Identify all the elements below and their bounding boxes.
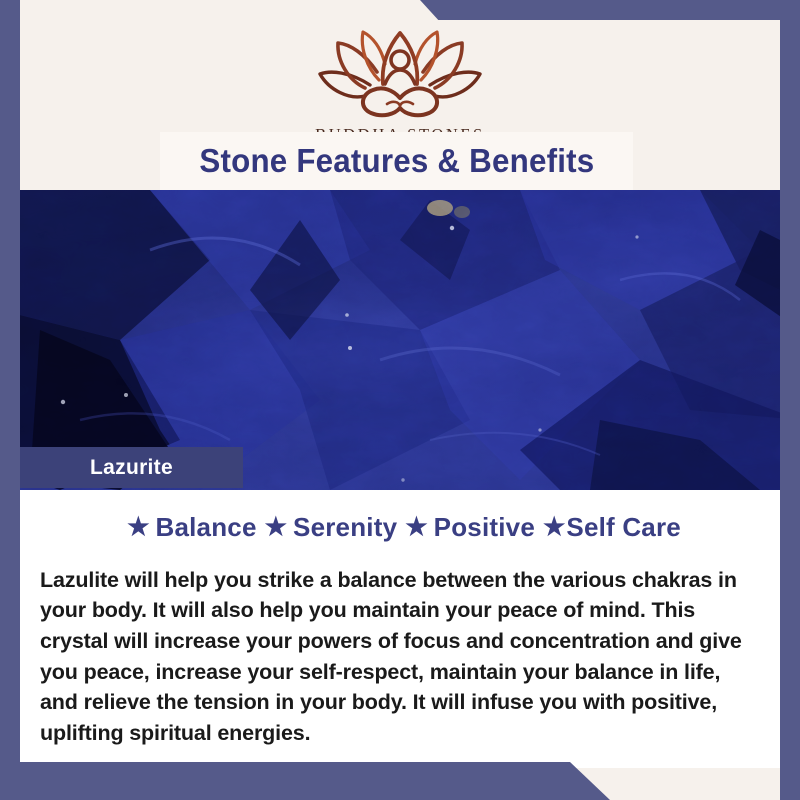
stone-photo — [0, 190, 800, 490]
star-icon: ★ — [127, 515, 149, 540]
star-icon: ★ — [405, 515, 427, 540]
star-icon: ★ — [265, 515, 287, 540]
stone-photo-artwork — [0, 190, 800, 490]
frame-left-bar — [0, 0, 20, 800]
benefit-label-self-care: Self Care — [566, 512, 681, 543]
benefit-label-balance: Balance — [155, 512, 256, 543]
stone-name-banner: Lazurite — [20, 447, 243, 488]
page-title: Stone Features & Benefits — [199, 142, 594, 180]
title-banner: Stone Features & Benefits — [160, 132, 633, 190]
stone-name-label: Lazurite — [90, 456, 173, 480]
poster-root: Lazurite — [0, 0, 800, 800]
stone-description: Lazulite will help you strike a balance … — [34, 565, 766, 749]
frame-right-bar — [780, 0, 800, 800]
benefit-label-positive: Positive — [434, 512, 535, 543]
benefits-row: ★ Balance ★ Serenity ★ Positive ★ Self C… — [34, 512, 766, 543]
content-panel: ★ Balance ★ Serenity ★ Positive ★ Self C… — [20, 490, 780, 768]
lotus-meditation-icon — [315, 28, 485, 120]
benefit-label-serenity: Serenity — [293, 512, 397, 543]
star-icon: ★ — [543, 515, 565, 540]
